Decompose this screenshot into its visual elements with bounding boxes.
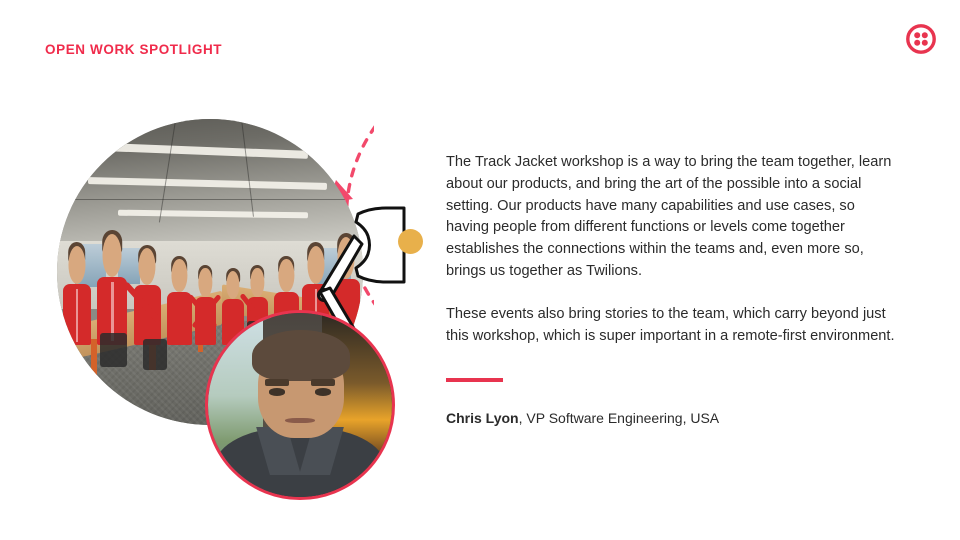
quote-paragraph-1: The Track Jacket workshop is a way to br… [446, 152, 898, 283]
speaker-headshot-photo [205, 310, 395, 500]
speaker-role: , VP Software Engineering, USA [519, 410, 720, 426]
attribution-line: Chris Lyon, VP Software Engineering, USA [446, 410, 719, 426]
visual-collage [0, 0, 440, 540]
speaker-name: Chris Lyon [446, 410, 519, 426]
slide-canvas: OPEN WORK SPOTLIGHT [0, 0, 960, 540]
twilio-logo [906, 24, 936, 54]
quote-paragraph-2: These events also bring stories to the t… [446, 304, 898, 348]
accent-divider-rule [446, 378, 503, 382]
amber-accent-dot [398, 229, 423, 254]
quote-copy-block: The Track Jacket workshop is a way to br… [446, 152, 898, 347]
